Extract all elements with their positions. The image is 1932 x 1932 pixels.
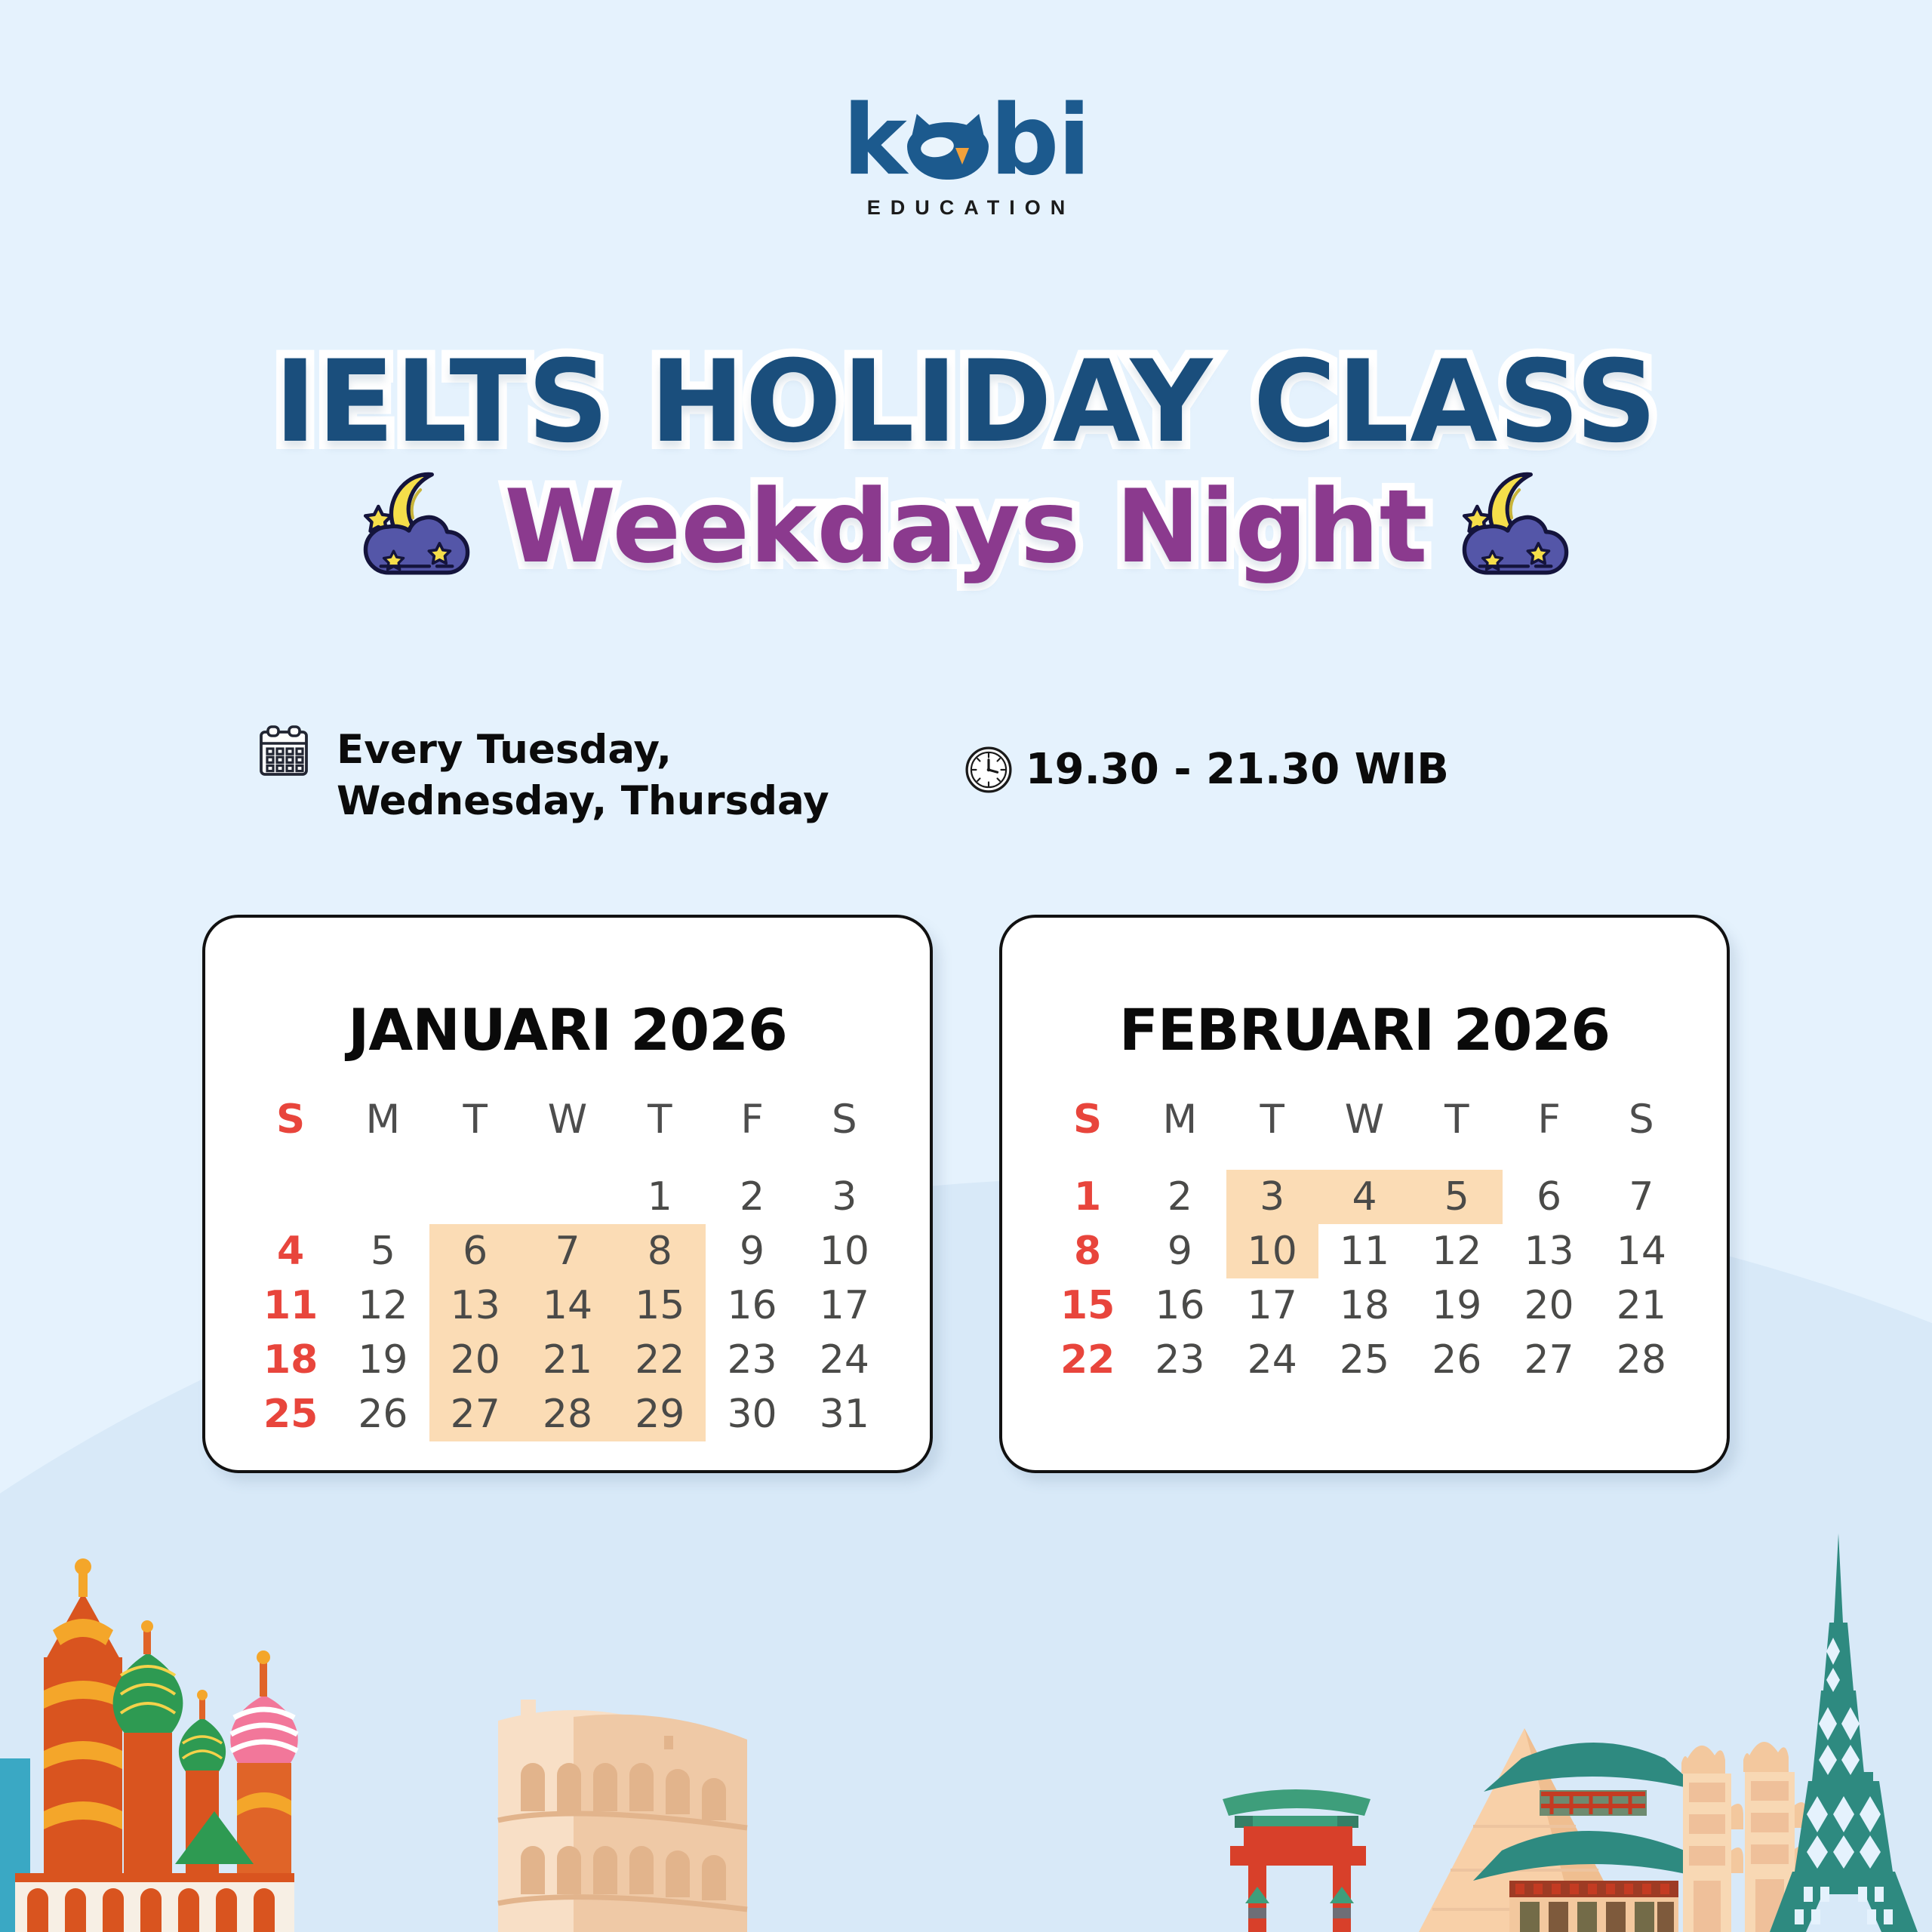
calendar-dow-header: W (1318, 1097, 1411, 1170)
calendar-day-cell[interactable]: 31 (798, 1387, 891, 1441)
calendar-day-cell[interactable]: 20 (429, 1333, 521, 1387)
logo-mark: k bi (843, 100, 1090, 184)
calendar-day-cell[interactable]: 14 (521, 1278, 614, 1333)
class-days-text: Every Tuesday, Wednesday, Thursday (337, 724, 829, 827)
calendar-dow-header: T (429, 1097, 521, 1170)
calendar-day-cell[interactable]: 3 (1226, 1170, 1318, 1224)
calendar-day-cell[interactable]: 18 (1318, 1278, 1411, 1333)
calendar-card-february: FEBRUARI 2026 SMTWTFS1234567891011121314… (999, 915, 1730, 1473)
calendar-day-cell[interactable]: 9 (1134, 1224, 1226, 1278)
calendar-dow-header: F (706, 1097, 798, 1170)
calendar-day-cell[interactable]: 16 (706, 1278, 798, 1333)
calendar-cell-empty (429, 1170, 521, 1224)
subtitle-row: Weekdays Night (0, 466, 1932, 588)
class-days-line-2: Wednesday, Thursday (337, 776, 829, 827)
calendar-day-cell[interactable]: 3 (798, 1170, 891, 1224)
calendar-day-cell[interactable]: 27 (429, 1387, 521, 1441)
page-subtitle: Weekdays Night (501, 466, 1430, 588)
calendar-day-cell[interactable]: 15 (614, 1278, 706, 1333)
calendar-grid: SMTWTFS123456789101112131415161718192021… (245, 1097, 891, 1441)
calendar-day-cell[interactable]: 28 (521, 1387, 614, 1441)
calendar-day-cell[interactable]: 23 (706, 1333, 798, 1387)
calendar-day-cell[interactable]: 2 (1134, 1170, 1226, 1224)
calendar-dow-header: F (1503, 1097, 1595, 1170)
calendar-grid: SMTWTFS123456789101112131415161718192021… (1041, 1097, 1687, 1387)
calendar-day-cell[interactable]: 11 (1318, 1224, 1411, 1278)
class-days-line-1: Every Tuesday, (337, 724, 829, 776)
schedule-info-row: Every Tuesday, Wednesday, Thursday 19.30… (0, 724, 1932, 827)
calendar-dow-header: T (1411, 1097, 1503, 1170)
calendar-dow-header: T (614, 1097, 706, 1170)
calendar-day-cell[interactable]: 8 (614, 1224, 706, 1278)
calendar-day-cell[interactable]: 14 (1595, 1224, 1687, 1278)
calendar-day-cell[interactable]: 21 (521, 1333, 614, 1387)
calendar-day-cell[interactable]: 23 (1134, 1333, 1226, 1387)
calendar-icon (257, 724, 311, 782)
calendar-day-cell[interactable]: 8 (1041, 1224, 1134, 1278)
brand-logo: k bi EDUCATION (0, 100, 1932, 220)
calendar-dow-header: M (1134, 1097, 1226, 1170)
calendar-cell-empty (337, 1170, 429, 1224)
calendar-dow-header: S (798, 1097, 891, 1170)
calendar-day-cell[interactable]: 11 (245, 1278, 337, 1333)
calendar-day-cell[interactable]: 6 (429, 1224, 521, 1278)
calendar-day-cell[interactable]: 15 (1041, 1278, 1134, 1333)
calendar-dow-header: S (1041, 1097, 1134, 1170)
calendar-dow-header: W (521, 1097, 614, 1170)
calendar-dow-header: M (337, 1097, 429, 1170)
headline-block: IELTS HOLIDAY CLASS Weekdays Night (0, 341, 1932, 588)
calendar-day-cell[interactable]: 17 (1226, 1278, 1318, 1333)
logo-letter-k: k (843, 99, 906, 184)
calendar-dow-header: T (1226, 1097, 1318, 1170)
class-time-text: 19.30 - 21.30 WIB (1026, 743, 1449, 797)
calendar-title: FEBRUARI 2026 (1041, 996, 1687, 1063)
calendar-day-cell[interactable]: 21 (1595, 1278, 1687, 1333)
calendar-day-cell[interactable]: 19 (1411, 1278, 1503, 1333)
calendar-cell-empty (245, 1170, 337, 1224)
calendar-day-cell[interactable]: 29 (614, 1387, 706, 1441)
calendar-day-cell[interactable]: 9 (706, 1224, 798, 1278)
calendar-day-cell[interactable]: 18 (245, 1333, 337, 1387)
calendar-day-cell[interactable]: 10 (798, 1224, 891, 1278)
calendar-cell-empty (521, 1170, 614, 1224)
calendar-day-cell[interactable]: 12 (337, 1278, 429, 1333)
calendar-day-cell[interactable]: 7 (521, 1224, 614, 1278)
calendar-day-cell[interactable]: 22 (614, 1333, 706, 1387)
calendar-day-cell[interactable]: 4 (245, 1224, 337, 1278)
calendar-day-cell[interactable]: 30 (706, 1387, 798, 1441)
calendar-day-cell[interactable]: 24 (1226, 1333, 1318, 1387)
calendar-day-cell[interactable]: 7 (1595, 1170, 1687, 1224)
calendar-day-cell[interactable]: 10 (1226, 1224, 1318, 1278)
calendar-day-cell[interactable]: 5 (1411, 1170, 1503, 1224)
crescent-moon-cloud-icon (352, 469, 481, 584)
calendar-day-cell[interactable]: 25 (1318, 1333, 1411, 1387)
calendar-day-cell[interactable]: 27 (1503, 1333, 1595, 1387)
clock-icon (964, 745, 1014, 795)
calendar-day-cell[interactable]: 19 (337, 1333, 429, 1387)
calendar-day-cell[interactable]: 1 (614, 1170, 706, 1224)
calendar-day-cell[interactable]: 2 (706, 1170, 798, 1224)
calendar-card-january: JANUARI 2026 SMTWTFS12345678910111213141… (202, 915, 933, 1473)
calendar-day-cell[interactable]: 25 (245, 1387, 337, 1441)
calendar-day-cell[interactable]: 16 (1134, 1278, 1226, 1333)
calendar-title: JANUARI 2026 (245, 996, 891, 1063)
calendar-day-cell[interactable]: 6 (1503, 1170, 1595, 1224)
class-time-info: 19.30 - 21.30 WIB (964, 743, 1449, 797)
calendar-day-cell[interactable]: 20 (1503, 1278, 1595, 1333)
logo-letter-bi: bi (990, 99, 1090, 184)
calendar-day-cell[interactable]: 26 (337, 1387, 429, 1441)
calendar-day-cell[interactable]: 17 (798, 1278, 891, 1333)
calendar-dow-header: S (1595, 1097, 1687, 1170)
class-days-info: Every Tuesday, Wednesday, Thursday (257, 724, 829, 827)
owl-icon (907, 115, 989, 180)
calendar-day-cell[interactable]: 1 (1041, 1170, 1134, 1224)
calendar-day-cell[interactable]: 28 (1595, 1333, 1687, 1387)
calendar-row: JANUARI 2026 SMTWTFS12345678910111213141… (0, 915, 1932, 1473)
calendar-day-cell[interactable]: 26 (1411, 1333, 1503, 1387)
page-title: IELTS HOLIDAY CLASS (0, 341, 1932, 463)
calendar-day-cell[interactable]: 13 (1503, 1224, 1595, 1278)
calendar-day-cell[interactable]: 5 (337, 1224, 429, 1278)
calendar-day-cell[interactable]: 4 (1318, 1170, 1411, 1224)
calendar-day-cell[interactable]: 12 (1411, 1224, 1503, 1278)
calendar-day-cell[interactable]: 13 (429, 1278, 521, 1333)
logo-tagline: EDUCATION (867, 196, 1075, 220)
calendar-day-cell[interactable]: 22 (1041, 1333, 1134, 1387)
calendar-dow-header: S (245, 1097, 337, 1170)
crescent-moon-cloud-icon (1451, 469, 1580, 584)
calendar-day-cell[interactable]: 24 (798, 1333, 891, 1387)
